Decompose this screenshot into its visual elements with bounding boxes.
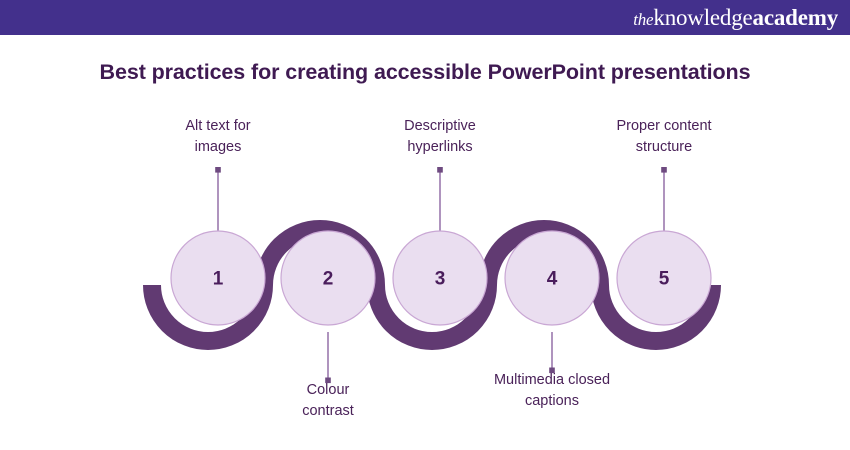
connector-dot-3 (437, 167, 443, 173)
step-label-1: Alt text for images (138, 116, 298, 158)
step-label-4: Multimedia closed captions (462, 370, 642, 412)
step-number-5: 5 (659, 269, 670, 290)
brand-logo: theknowledgeacademy (633, 6, 838, 29)
step-label-5: Proper content structure (584, 116, 744, 158)
connector-dot-5 (661, 167, 667, 173)
connector-dot-1 (215, 167, 221, 173)
process-diagram: 1 2 3 4 5 Alt text for images Colour con… (0, 108, 850, 438)
brand-academy-text: academy (753, 5, 838, 30)
header-bar: theknowledgeacademy (0, 0, 850, 35)
step-number-2: 2 (323, 269, 334, 290)
step-label-3: Descriptive hyperlinks (360, 116, 520, 158)
step-label-2: Colour contrast (248, 380, 408, 422)
step-number-4: 4 (547, 269, 558, 290)
brand-the-text: the (633, 10, 653, 29)
step-number-1: 1 (213, 269, 224, 290)
page-title: Best practices for creating accessible P… (0, 60, 850, 85)
step-number-3: 3 (435, 269, 446, 290)
brand-knowledge-text: knowledge (653, 5, 752, 30)
